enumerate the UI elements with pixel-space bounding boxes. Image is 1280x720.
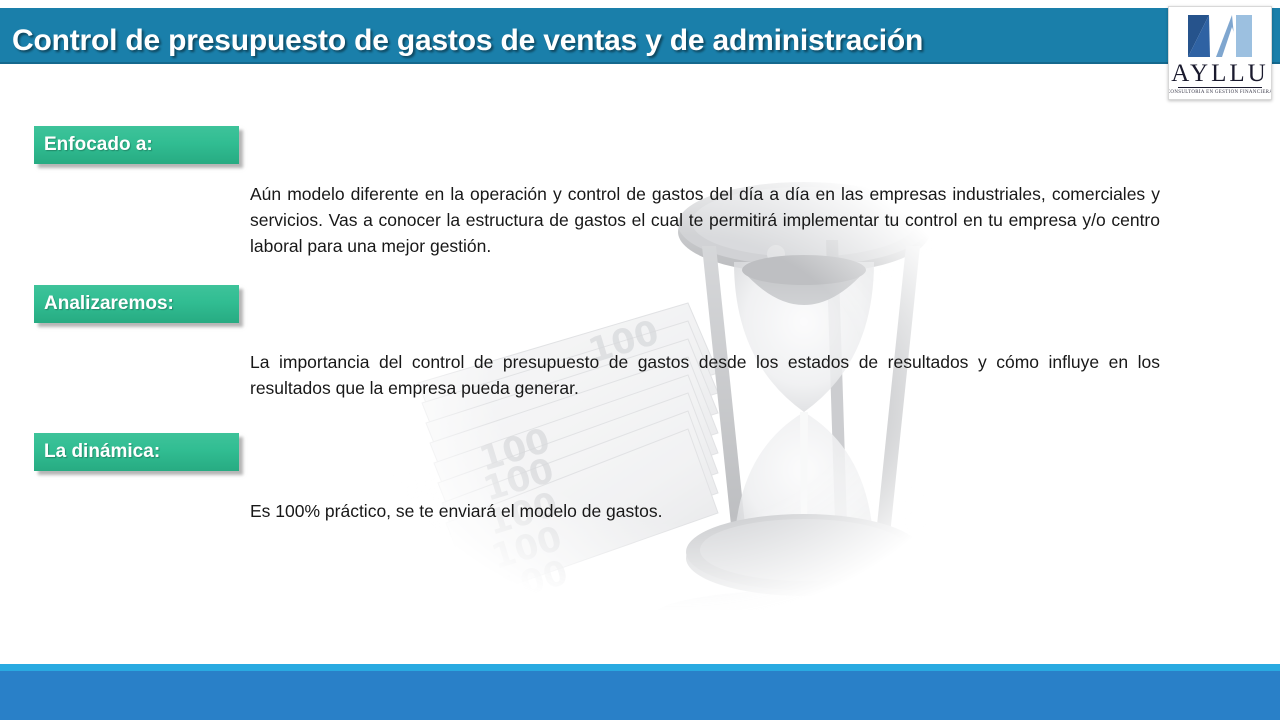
- section-chip-label: La dinámica:: [34, 441, 160, 463]
- section-chip-label: Analizaremos:: [34, 293, 174, 315]
- svg-text:100: 100: [475, 421, 555, 480]
- footer-accent-strip: [0, 664, 1280, 671]
- page-title: Control de presupuesto de gastos de vent…: [12, 24, 923, 58]
- slide-canvas: 100 100 100 100 100 100: [0, 0, 1280, 720]
- ayllu-triangle-mark-icon: [1186, 13, 1254, 59]
- ayllu-logo: AYLLU CONSULTORÍA EN GESTIÓN FINANCIERA: [1168, 6, 1272, 100]
- logo-divider: [1178, 87, 1262, 88]
- logo-wordmark: AYLLU: [1171, 61, 1268, 86]
- section-chip-label: Enfocado a:: [34, 134, 153, 156]
- svg-text:100: 100: [493, 553, 573, 610]
- section-body-dinamica: Es 100% práctico, se te enviará el model…: [250, 498, 1160, 524]
- section-chip-enfocado[interactable]: Enfocado a:: [34, 126, 239, 164]
- section-chip-analizaremos[interactable]: Analizaremos:: [34, 285, 239, 323]
- header-bar: Control de presupuesto de gastos de vent…: [0, 8, 1280, 64]
- svg-text:100: 100: [487, 519, 567, 578]
- section-chip-dinamica[interactable]: La dinámica:: [34, 433, 239, 471]
- section-body-enfocado: Aún modelo diferente en la operación y c…: [250, 181, 1160, 259]
- logo-tagline: CONSULTORÍA EN GESTIÓN FINANCIERA: [1168, 90, 1272, 95]
- footer-band: [0, 671, 1280, 720]
- section-body-analizaremos: La importancia del control de presupuest…: [250, 349, 1160, 401]
